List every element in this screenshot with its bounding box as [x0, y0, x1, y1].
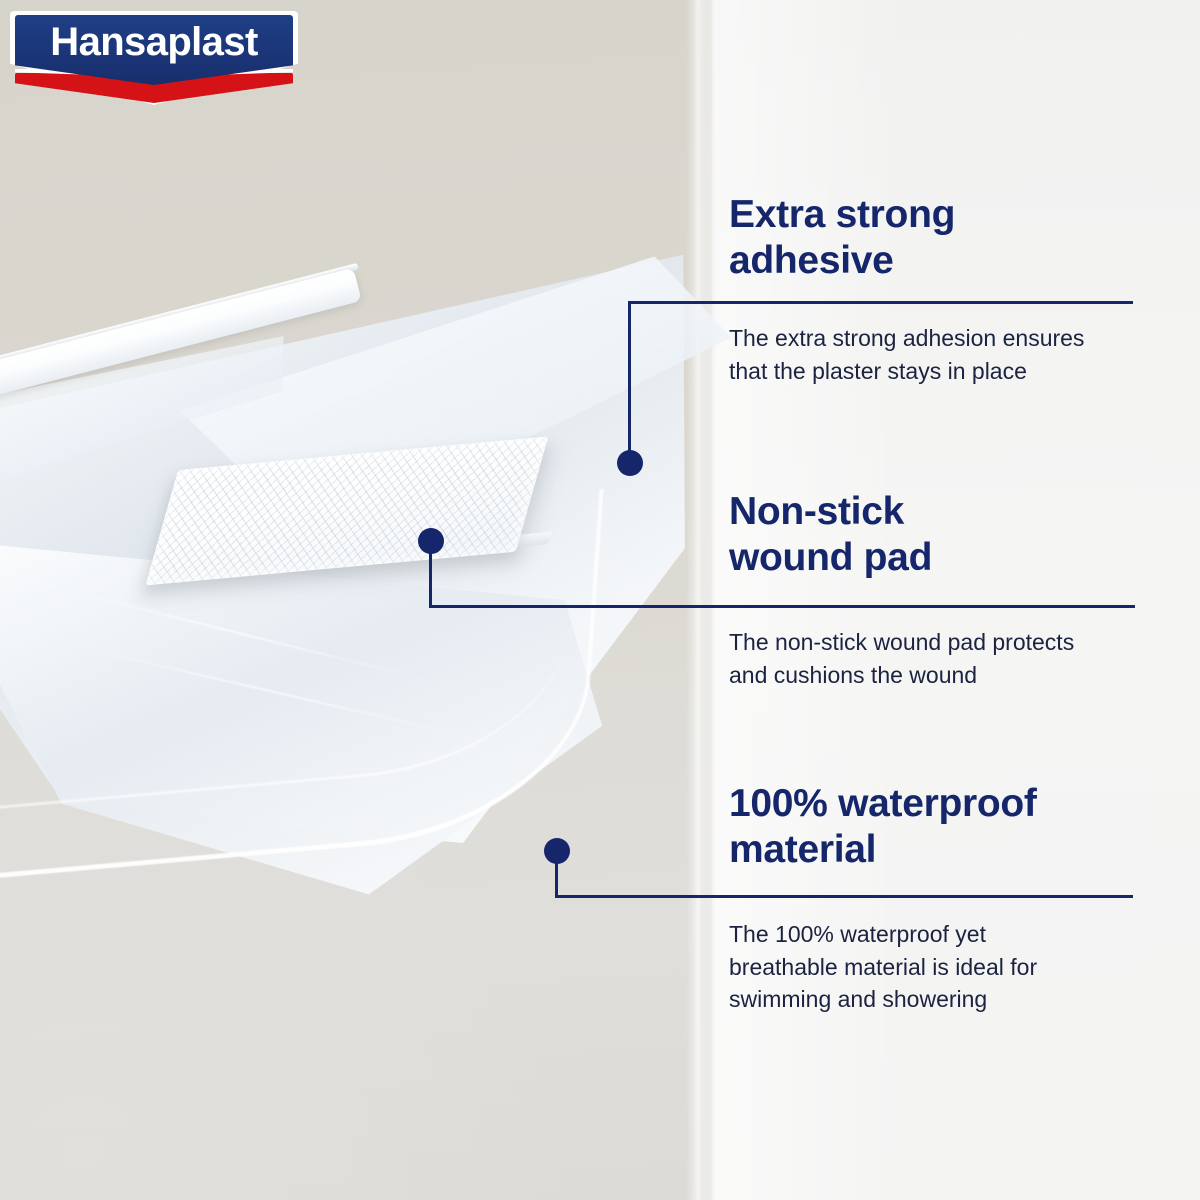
- callout-1-leader-dot: [617, 450, 643, 476]
- callout-3-rule: [555, 895, 1133, 898]
- callout-non-stick-wound-pad: Non-stick wound pad: [729, 489, 1149, 580]
- callout-2-heading: Non-stick wound pad: [729, 489, 1149, 580]
- callout-3-body-wrap: The 100% waterproof yet breathable mater…: [729, 918, 1129, 1016]
- callout-1-heading: Extra strong adhesive: [729, 192, 1149, 283]
- callout-3-leader-dot: [544, 838, 570, 864]
- callout-2-leader-vertical: [429, 545, 432, 608]
- callout-2-rule: [429, 605, 1135, 608]
- callout-waterproof-material: 100% waterproof material: [729, 781, 1159, 872]
- logo-wordmark: Hansaplast: [10, 20, 298, 65]
- product-image: [0, 330, 780, 950]
- callout-extra-strong-adhesive: Extra strong adhesive: [729, 192, 1149, 283]
- callout-1-body: The extra strong adhesion ensures that t…: [729, 322, 1149, 387]
- callout-1-rule: [628, 301, 1133, 304]
- infographic-canvas: Hansaplast Extra strong adhesive The ext…: [0, 0, 1200, 1200]
- hansaplast-logo: Hansaplast: [10, 11, 298, 105]
- callout-1-body-wrap: The extra strong adhesion ensures that t…: [729, 322, 1149, 387]
- callout-2-leader-dot: [418, 528, 444, 554]
- callout-1-leader-vertical: [628, 301, 631, 463]
- callout-3-body: The 100% waterproof yet breathable mater…: [729, 918, 1129, 1016]
- callout-3-heading: 100% waterproof material: [729, 781, 1159, 872]
- callout-2-body: The non-stick wound pad protects and cus…: [729, 626, 1159, 691]
- callout-2-body-wrap: The non-stick wound pad protects and cus…: [729, 626, 1159, 691]
